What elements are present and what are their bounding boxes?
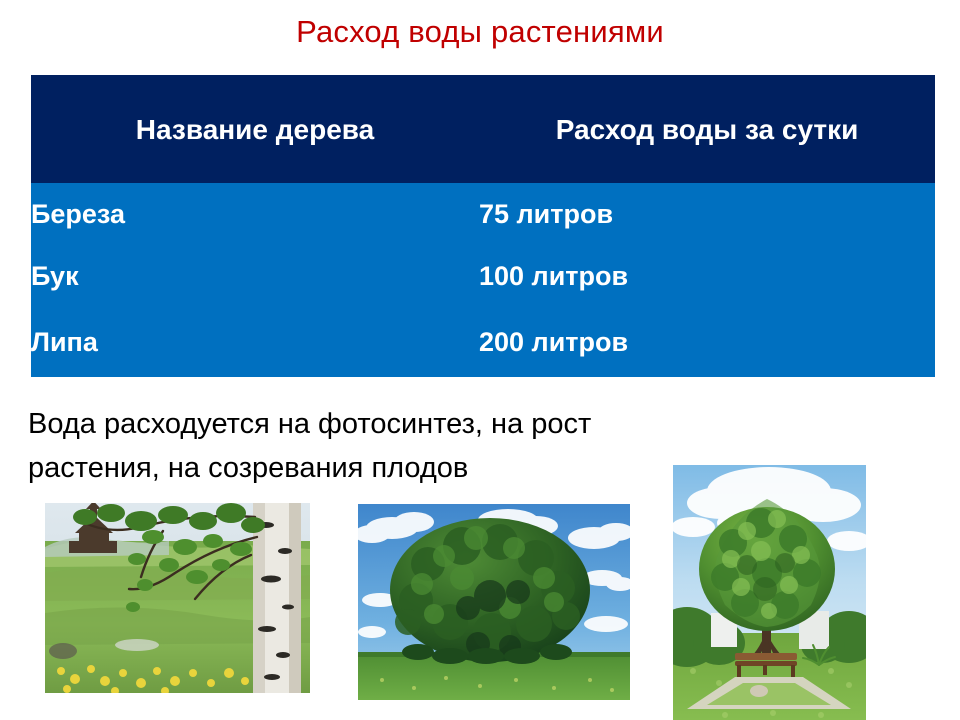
- water-consumption-table: Название дерева Расход воды за сутки Бер…: [31, 75, 935, 377]
- table-row: Бук 100 литров: [31, 246, 935, 307]
- column-header-tree-name: Название дерева: [31, 75, 479, 183]
- table-header-row: Название дерева Расход воды за сутки: [31, 75, 935, 183]
- beech-photo-graphic: [358, 504, 630, 700]
- cell-water-amount: 100 литров: [479, 246, 935, 307]
- beech-photo: [358, 504, 630, 700]
- body-paragraph-line-1: Вода расходуется на фотосинтез, на рост: [28, 402, 728, 446]
- linden-photo-graphic: [673, 465, 866, 720]
- table-row: Береза 75 литров: [31, 183, 935, 246]
- cell-tree-name: Бук: [31, 246, 479, 307]
- cell-tree-name: Липа: [31, 307, 479, 377]
- table-body: Береза 75 литров Бук 100 литров Липа 200…: [31, 183, 935, 377]
- slide-canvas: Расход воды растениями Название дерева Р…: [0, 0, 960, 720]
- body-paragraph: Вода расходуется на фотосинтез, на рост …: [28, 402, 728, 490]
- table-row: Липа 200 литров: [31, 307, 935, 377]
- column-header-water-per-day: Расход воды за сутки: [479, 75, 935, 183]
- birch-photo-graphic: [45, 503, 310, 693]
- cell-water-amount: 75 литров: [479, 183, 935, 246]
- linden-photo: [673, 465, 866, 720]
- cell-water-amount: 200 литров: [479, 307, 935, 377]
- cell-tree-name: Береза: [31, 183, 479, 246]
- table-header: Название дерева Расход воды за сутки: [31, 75, 935, 183]
- birch-photo: [45, 503, 310, 693]
- body-paragraph-line-2: растения, на созревания плодов: [28, 446, 728, 490]
- page-title: Расход воды растениями: [0, 14, 960, 50]
